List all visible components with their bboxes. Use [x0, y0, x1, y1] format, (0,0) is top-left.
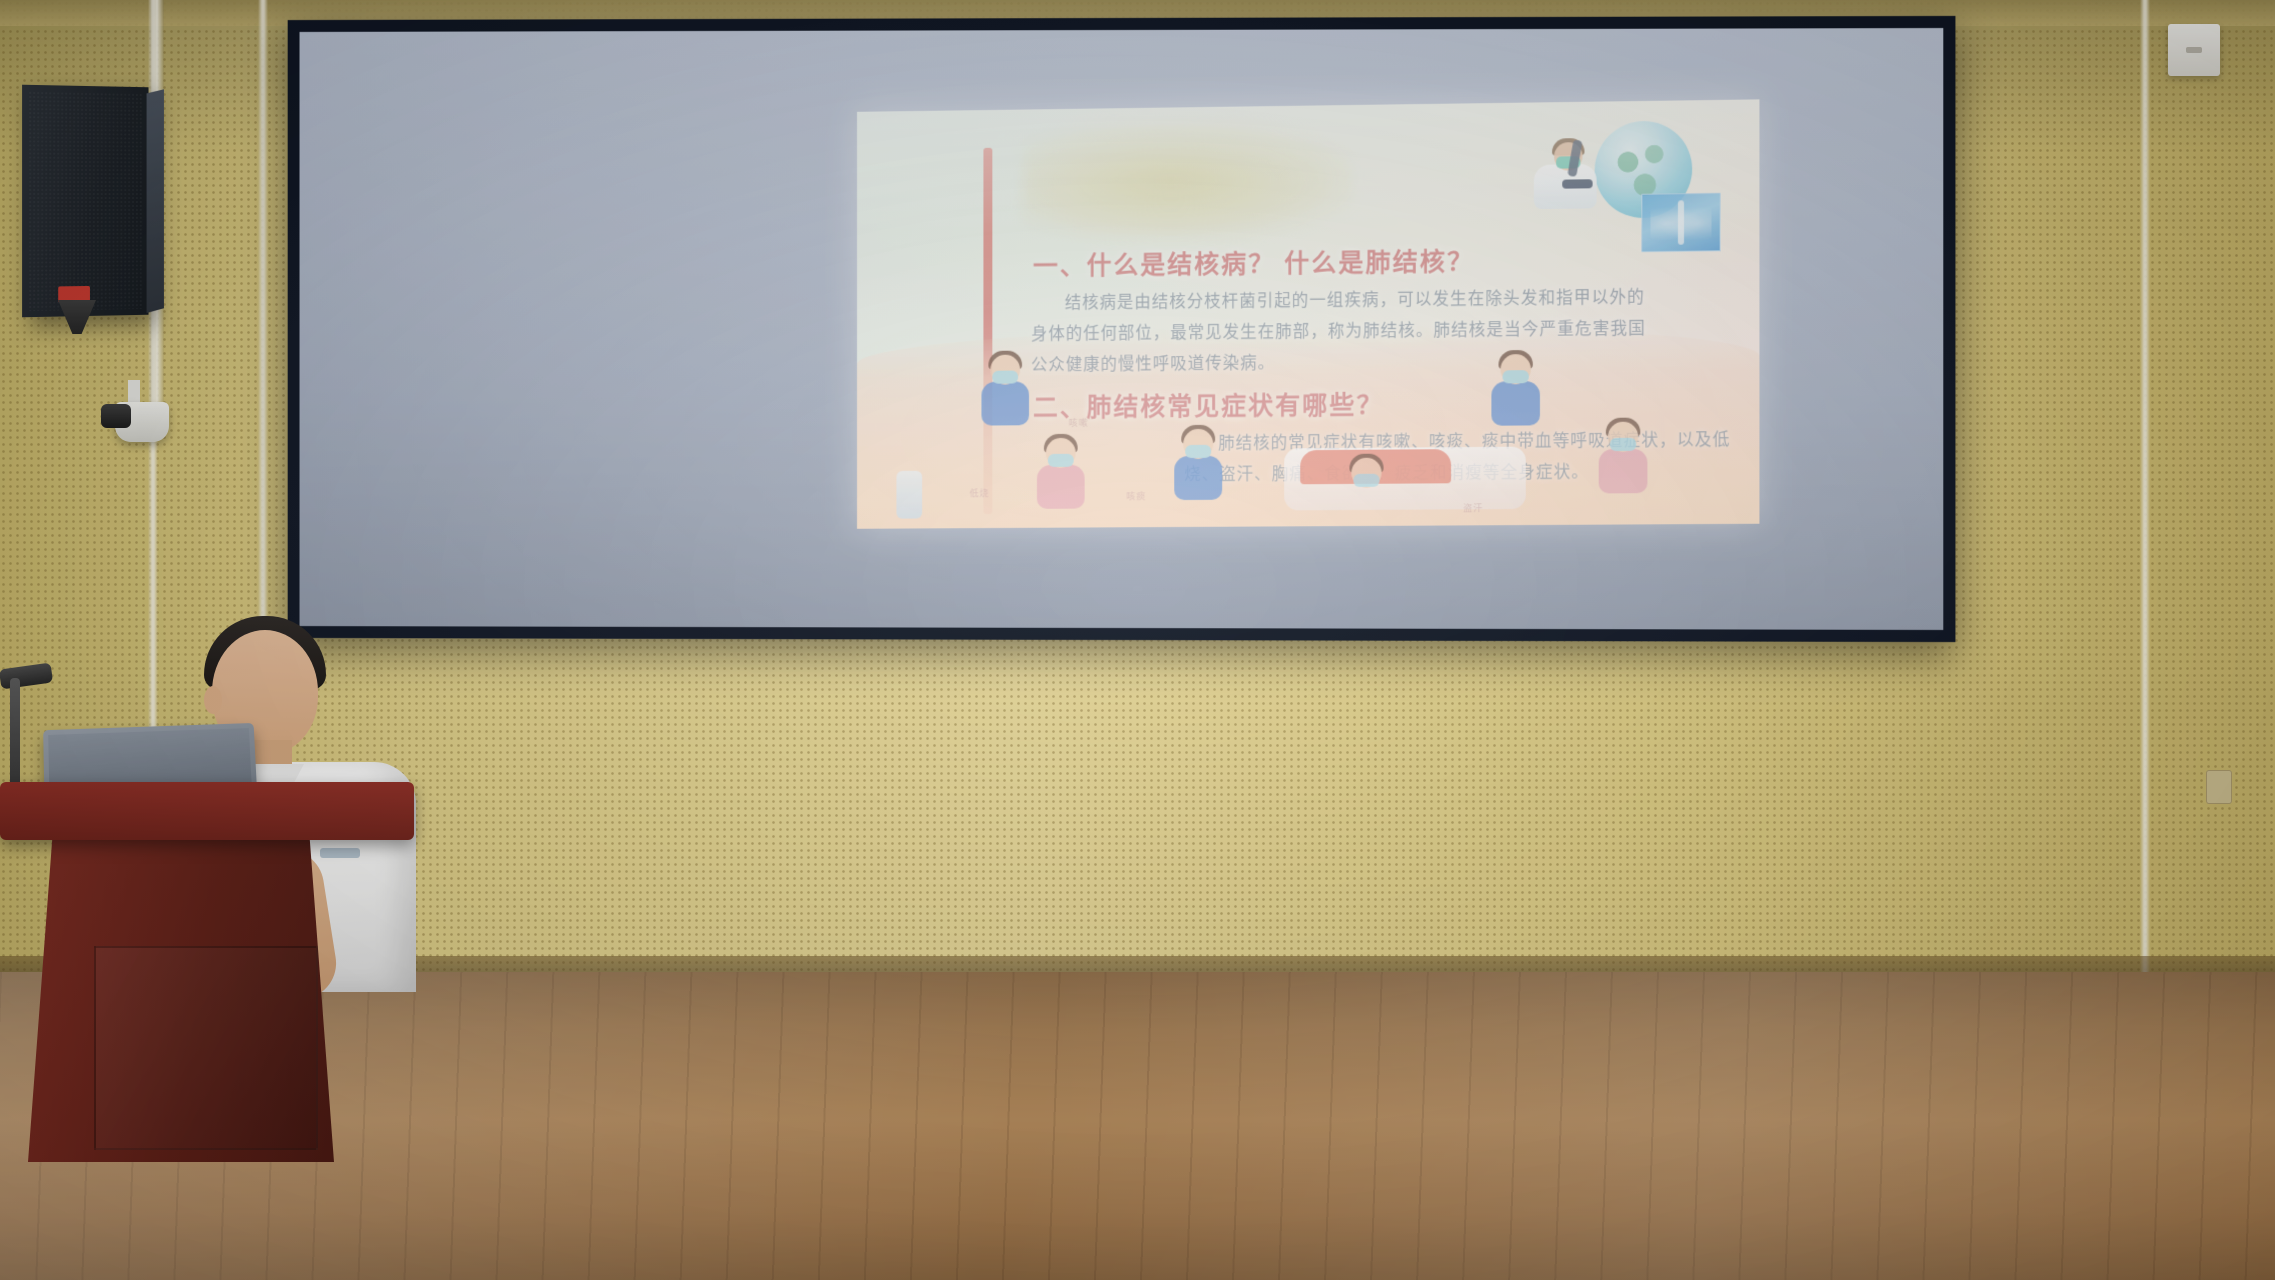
presenter-ear [204, 686, 222, 714]
camera-lens-icon [101, 404, 131, 428]
wooden-podium [0, 782, 414, 1162]
projection-screen: 一、什么是结核病？ 什么是肺结核？ 结核病是由结核分枝杆菌引起的一组疾病，可以发… [288, 16, 1956, 642]
speaker-side-panel [147, 89, 164, 313]
wall-box-vent-2 [2186, 47, 2202, 53]
ceiling-speaker [22, 85, 148, 318]
projected-slide: 一、什么是结核病？ 什么是肺结核？ 结核病是由结核分枝杆菌引起的一组疾病，可以发… [857, 99, 1759, 528]
power-outlet-icon [2206, 770, 2232, 804]
lecture-hall-photo: 一、什么是结核病？ 什么是肺结核？ 结核病是由结核分枝杆菌引起的一组疾病，可以发… [0, 0, 2275, 1280]
podium-body [28, 836, 334, 1162]
wall-box-right-icon [2168, 24, 2220, 76]
slide-projection-wash [857, 99, 1759, 528]
security-camera-icon [115, 402, 169, 442]
speaker-grill-texture [28, 91, 143, 311]
projection-screen-surface: 一、什么是结核病？ 什么是肺结核？ 结核病是由结核分枝杆菌引起的一组疾病，可以发… [300, 28, 1944, 630]
podium-front-panel [94, 946, 318, 1150]
podium-top-surface [0, 782, 414, 840]
